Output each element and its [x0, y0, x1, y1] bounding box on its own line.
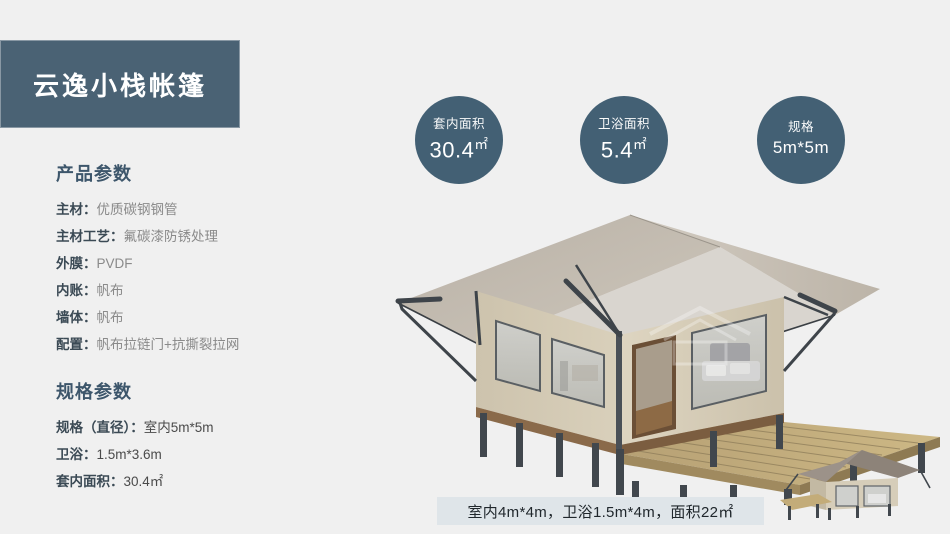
badge-value: 30.4㎡ — [430, 132, 489, 163]
image-caption: 室内4m*4m，卫浴1.5m*4m，面积22㎡ — [437, 497, 764, 525]
badge-value: 5.4㎡ — [601, 132, 647, 163]
spec-value: 1.5m*3.6m — [97, 447, 162, 462]
spec-row: 配置：帆布拉链门+抗撕裂拉网 — [56, 331, 356, 358]
spec-key: 配置： — [56, 337, 97, 352]
spec-value: 优质碳钢钢管 — [97, 202, 178, 217]
spec-row: 主材工艺：氟碳漆防锈处理 — [56, 223, 356, 250]
spec-row: 卫浴：1.5m*3.6m — [56, 441, 356, 468]
page-title: 云逸小栈帐篷 — [33, 66, 207, 103]
product-spec-page: 云逸小栈帐篷 产品参数 主材：优质碳钢钢管 主材工艺：氟碳漆防锈处理 外膜：PV… — [0, 0, 950, 534]
product-image-thumbnail — [770, 444, 940, 522]
badge-unit: ㎡ — [474, 137, 488, 152]
spec-key: 规格（直径）： — [56, 420, 144, 435]
spec-row: 墙体：帆布 — [56, 304, 356, 331]
title-banner: 云逸小栈帐篷 — [0, 40, 240, 128]
badge-label: 规格 — [788, 119, 814, 135]
badge-interior-area: 套内面积 30.4㎡ — [415, 96, 503, 184]
section-heading-product: 产品参数 — [56, 160, 356, 186]
spec-key: 卫浴： — [56, 447, 97, 462]
badge-bathroom-area: 卫浴面积 5.4㎡ — [580, 96, 668, 184]
spec-value: 30.4㎡ — [124, 474, 164, 489]
spec-row: 外膜：PVDF — [56, 250, 356, 277]
spec-column: 产品参数 主材：优质碳钢钢管 主材工艺：氟碳漆防锈处理 外膜：PVDF 内账：帆… — [56, 160, 356, 495]
spec-value: PVDF — [97, 256, 133, 271]
spec-row: 主材：优质碳钢钢管 — [56, 196, 356, 223]
spec-key: 主材： — [56, 202, 97, 217]
badge-value: 5m*5m — [773, 135, 829, 161]
spec-key: 内账： — [56, 283, 97, 298]
spec-value: 氟碳漆防锈处理 — [124, 229, 219, 244]
badge-label: 套内面积 — [433, 116, 485, 132]
badge-label: 卫浴面积 — [598, 116, 650, 132]
spec-row: 规格（直径）：室内5m*5m — [56, 414, 356, 441]
spec-value: 帆布 — [97, 283, 124, 298]
spec-key: 套内面积： — [56, 474, 124, 489]
badge-dimensions: 规格 5m*5m — [757, 96, 845, 184]
section-heading-spec: 规格参数 — [56, 378, 356, 404]
spec-key: 外膜： — [56, 256, 97, 271]
spec-key: 墙体： — [56, 310, 97, 325]
spec-key: 主材工艺： — [56, 229, 124, 244]
spec-value: 帆布 — [97, 310, 124, 325]
spec-row: 套内面积：30.4㎡ — [56, 468, 356, 495]
spec-value: 帆布拉链门+抗撕裂拉网 — [97, 337, 240, 352]
spec-row: 内账：帆布 — [56, 277, 356, 304]
badge-unit: ㎡ — [633, 137, 647, 152]
spec-value: 室内5m*5m — [144, 420, 214, 435]
